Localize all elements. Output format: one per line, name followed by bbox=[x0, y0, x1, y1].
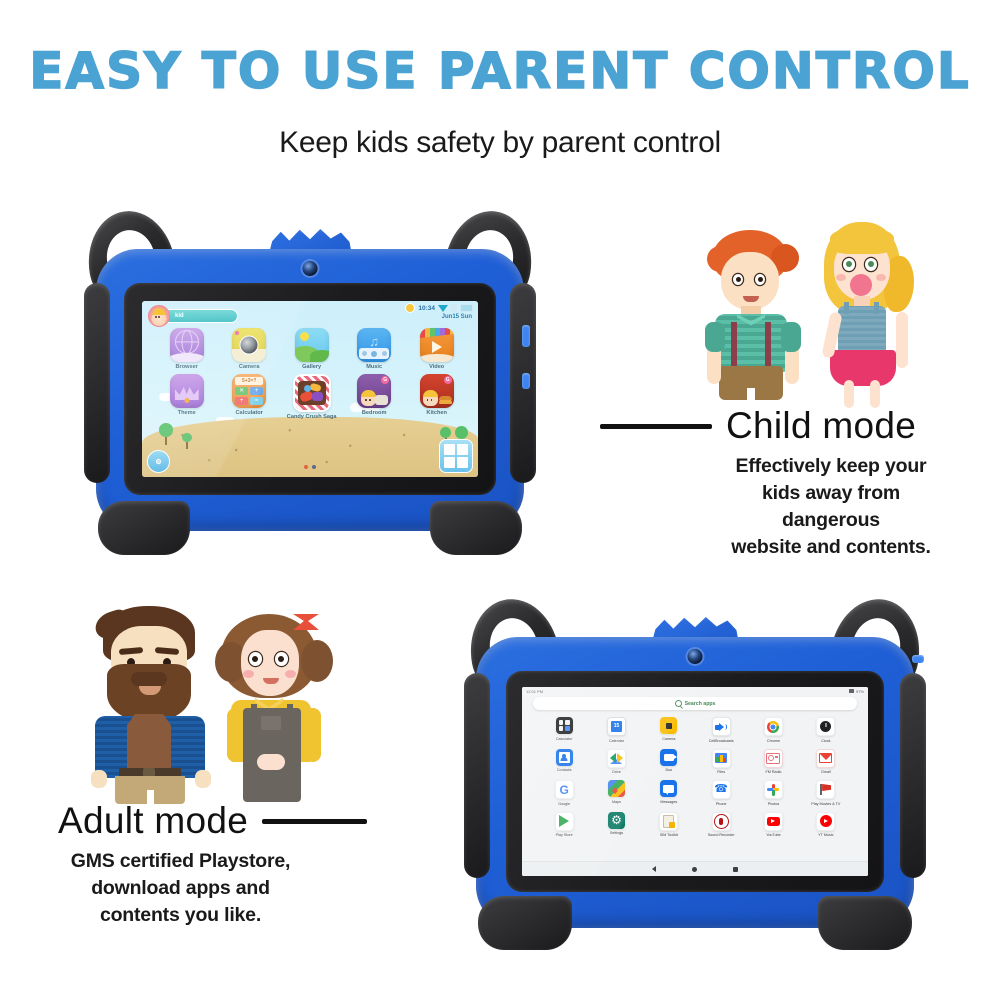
boy-sleeve bbox=[781, 322, 801, 352]
boy-pupil bbox=[736, 277, 741, 282]
android-app-photos[interactable]: Photos bbox=[747, 780, 799, 806]
father-hand bbox=[195, 770, 211, 788]
landscape-icon bbox=[295, 328, 329, 362]
android-app-label: YT Music bbox=[818, 833, 833, 837]
kid-status-bar: 10:34 bbox=[405, 303, 473, 313]
android-app-cellbroadcasts[interactable]: CellBroadcasts bbox=[695, 717, 747, 743]
boy-character bbox=[697, 230, 807, 408]
tree-decor bbox=[182, 433, 192, 449]
android-app-clock[interactable]: Clock bbox=[800, 717, 852, 743]
clock-icon bbox=[816, 717, 835, 736]
girl-character bbox=[810, 218, 920, 408]
android-app-label: FM Radio bbox=[766, 770, 782, 774]
play-store-icon bbox=[555, 812, 574, 831]
android-app-label: Files bbox=[717, 770, 725, 774]
android-app-contacts[interactable]: Contacts bbox=[538, 749, 590, 775]
android-app-label: Google bbox=[558, 802, 570, 806]
search-apps-label: Search apps bbox=[685, 701, 716, 707]
volume-button[interactable] bbox=[912, 655, 924, 663]
callout-description-line: Effectively keep your bbox=[712, 453, 950, 480]
android-navigation-bar bbox=[522, 861, 868, 876]
mother-hands bbox=[257, 754, 285, 770]
girl-bubblegum bbox=[850, 274, 872, 296]
father-mustache bbox=[131, 672, 167, 686]
android-app-files[interactable]: Files bbox=[695, 749, 747, 775]
tablet-edge-left bbox=[84, 283, 110, 483]
android-app-youtube[interactable]: YouTube bbox=[747, 812, 799, 838]
kid-app-candy-crush[interactable]: Candy Crush Saga bbox=[280, 374, 343, 420]
callout-rule bbox=[262, 819, 367, 824]
settings-gear-icon: ⚙ bbox=[608, 812, 625, 829]
camera-icon bbox=[660, 717, 677, 734]
battery-icon bbox=[849, 689, 854, 693]
android-app-label: Settings bbox=[610, 831, 623, 835]
tree-decor bbox=[159, 423, 173, 445]
android-app-fm-radio[interactable]: FM Radio bbox=[747, 749, 799, 775]
kid-app-video[interactable]: Video bbox=[405, 328, 468, 370]
boy-sleeve bbox=[705, 322, 725, 352]
mother-cheek bbox=[285, 670, 296, 678]
girl-pupil bbox=[868, 261, 874, 267]
broadcast-icon bbox=[712, 717, 731, 736]
android-app-gmail[interactable]: Gmail bbox=[800, 749, 852, 775]
kid-app-label: Camera bbox=[239, 364, 260, 370]
callout-heading-row: Child mode bbox=[600, 405, 950, 447]
adult-mode-screen: 12:01 PM 97% Search apps bbox=[522, 687, 868, 876]
android-app-label: Contacts bbox=[557, 768, 572, 772]
callout-heading-row: Adult mode bbox=[58, 800, 418, 842]
google-icon: G bbox=[555, 780, 574, 799]
music-player-icon: ♫ bbox=[357, 328, 391, 362]
android-app-label: Maps bbox=[612, 800, 621, 804]
android-app-label: YouTube bbox=[766, 833, 781, 837]
tablet-bezel: 12:01 PM 97% Search apps bbox=[506, 671, 884, 892]
android-app-label: Calendar bbox=[609, 739, 624, 743]
page-indicator-dots bbox=[304, 465, 316, 469]
youtube-icon bbox=[764, 812, 783, 831]
android-app-play-store[interactable]: Play Store bbox=[538, 812, 590, 838]
microphone-icon bbox=[712, 812, 731, 831]
files-icon bbox=[712, 749, 731, 768]
android-app-label: Drive bbox=[612, 770, 621, 774]
girl-skirt bbox=[830, 350, 896, 386]
kid-mode-screen: 10:34 Jun15 Sun kid bbox=[142, 301, 478, 477]
gmail-icon bbox=[816, 749, 835, 768]
android-app-label: Duo bbox=[665, 768, 672, 772]
calculator-icon bbox=[556, 717, 573, 734]
android-app-google[interactable]: G Google bbox=[538, 780, 590, 806]
android-app-phone[interactable]: ☎ Phone bbox=[695, 780, 747, 806]
android-app-sim-toolkit[interactable]: SIM Toolkit bbox=[643, 812, 695, 838]
girl-cheek bbox=[836, 274, 846, 281]
android-app-label: Sound Recorder bbox=[708, 833, 735, 837]
tablet-foot-left bbox=[98, 501, 190, 555]
kid-profile-name: kid bbox=[162, 309, 238, 323]
kid-app-camera[interactable]: Camera bbox=[218, 328, 281, 370]
girl-pupil bbox=[846, 261, 852, 267]
android-app-label: Clock bbox=[821, 739, 830, 743]
play-movies-icon bbox=[816, 780, 835, 799]
kid-profile-badge[interactable]: kid bbox=[148, 305, 238, 327]
battery-icon bbox=[460, 304, 473, 312]
globe-icon bbox=[170, 328, 204, 362]
crown-icon bbox=[170, 374, 204, 408]
kids-tablet-child-mode: 10:34 Jun15 Sun kid bbox=[80, 205, 540, 555]
volume-button[interactable] bbox=[522, 325, 530, 347]
yt-music-icon bbox=[816, 812, 835, 831]
girl-cheek bbox=[876, 274, 886, 281]
android-app-camera[interactable]: Camera bbox=[643, 717, 695, 743]
android-app-yt-music[interactable]: YT Music bbox=[800, 812, 852, 838]
android-app-label: Play Movies & TV bbox=[811, 802, 840, 806]
back-triangle-icon[interactable] bbox=[652, 866, 656, 872]
mother-arm bbox=[227, 708, 243, 762]
tablet-foot-right bbox=[818, 896, 912, 950]
kids-tablet-adult-mode: 12:01 PM 97% Search apps bbox=[460, 595, 930, 950]
android-app-label: Calculator bbox=[556, 737, 573, 741]
callout-child-mode: Child mode Effectively keep your kids aw… bbox=[600, 405, 950, 561]
mother-pupil bbox=[252, 656, 258, 662]
messages-icon bbox=[660, 780, 677, 797]
page-subtitle: Keep kids safety by parent control bbox=[0, 126, 1000, 160]
kid-app-label: Gallery bbox=[302, 364, 321, 370]
kid-app-label: Music bbox=[366, 364, 382, 370]
adults-illustration bbox=[85, 600, 330, 800]
android-app-label: Chrome bbox=[767, 739, 780, 743]
mother-apron-strap bbox=[287, 704, 293, 718]
callout-mode-label: Adult mode bbox=[58, 800, 248, 842]
recents-square-icon[interactable] bbox=[733, 867, 738, 872]
android-app-label: Camera bbox=[662, 737, 675, 741]
android-app-chrome[interactable]: Chrome bbox=[747, 717, 799, 743]
search-apps-bar[interactable]: Search apps bbox=[533, 697, 857, 710]
infographic-canvas: EASY TO USE PARENT CONTROL Keep kids saf… bbox=[0, 0, 1000, 1000]
tablet-foot-right bbox=[430, 501, 522, 555]
kid-app-calculator[interactable]: 5+3=? ✕ + + = Calculator bbox=[218, 374, 281, 420]
kid-app-browser[interactable]: Browser bbox=[155, 328, 217, 370]
tablet-edge-right bbox=[900, 673, 926, 878]
girl-bangs bbox=[830, 228, 894, 254]
callout-rule bbox=[600, 424, 712, 429]
chrome-icon bbox=[764, 717, 783, 736]
android-app-label: Phone bbox=[716, 802, 727, 806]
girl-strap bbox=[844, 302, 849, 314]
radio-icon bbox=[764, 749, 783, 768]
status-battery: 97% bbox=[849, 689, 864, 694]
alarm-icon bbox=[405, 303, 415, 313]
front-camera-icon bbox=[688, 649, 703, 664]
kid-status-date: Jun15 Sun bbox=[442, 314, 472, 320]
android-app-sound-recorder[interactable]: Sound Recorder bbox=[695, 812, 747, 838]
callout-description-line: website and contents. bbox=[712, 534, 950, 561]
kid-app-gallery[interactable]: Gallery bbox=[280, 328, 343, 370]
front-camera-icon bbox=[303, 261, 318, 276]
candy-icon bbox=[293, 374, 331, 412]
android-app-label: CellBroadcasts bbox=[709, 739, 734, 743]
camera-icon bbox=[232, 328, 266, 362]
android-app-drawer: 12:01 PM 97% Search apps bbox=[522, 687, 868, 876]
android-app-grid: Calculator 15 Calendar Ca bbox=[522, 717, 868, 837]
sim-toolkit-icon bbox=[659, 812, 678, 831]
home-circle-icon[interactable] bbox=[692, 867, 697, 872]
android-app-label: Photos bbox=[768, 802, 779, 806]
kid-app-label: Theme bbox=[178, 410, 196, 416]
phone-icon: ☎ bbox=[712, 780, 731, 799]
drive-icon bbox=[607, 749, 626, 768]
android-app-label: Messages bbox=[660, 800, 677, 804]
father-hand bbox=[91, 770, 107, 788]
boy-shorts-gap bbox=[747, 388, 755, 402]
kid-app-bedroom[interactable]: G Bedroom bbox=[343, 374, 406, 420]
mother-apron-pocket bbox=[261, 716, 281, 730]
mother-cheek bbox=[243, 670, 254, 678]
android-app-label: SIM Toolkit bbox=[660, 833, 678, 837]
kid-app-label: Kitchen bbox=[426, 410, 447, 416]
mother-arm bbox=[305, 708, 321, 762]
android-app-play-movies[interactable]: Play Movies & TV bbox=[800, 780, 852, 806]
tablet-bezel: 10:34 Jun15 Sun kid bbox=[124, 283, 496, 495]
android-app-label: Play Store bbox=[556, 833, 573, 837]
tablet-edge-left bbox=[464, 673, 490, 878]
girl-leg bbox=[844, 380, 854, 408]
tablet-foot-left bbox=[478, 896, 572, 950]
kitchen-game-icon: G bbox=[420, 374, 454, 408]
maps-icon bbox=[608, 780, 625, 797]
father-character bbox=[85, 606, 215, 802]
page-title: EASY TO USE PARENT CONTROL bbox=[0, 46, 1000, 96]
kid-app-grid: Browser Camera bbox=[155, 328, 467, 420]
callout-description-line: contents you like. bbox=[58, 902, 303, 929]
children-illustration bbox=[685, 212, 935, 407]
kid-avatar-icon bbox=[148, 305, 170, 327]
search-icon bbox=[675, 700, 682, 707]
girl-strap bbox=[874, 302, 879, 314]
power-button[interactable] bbox=[522, 373, 530, 389]
kid-app-theme[interactable]: Theme bbox=[155, 374, 217, 420]
kid-app-kitchen[interactable]: G Kitchen bbox=[405, 374, 468, 420]
status-time: 10:34 bbox=[418, 305, 435, 312]
contacts-icon bbox=[556, 749, 573, 766]
girl-leg bbox=[870, 380, 880, 408]
callout-description-line: download apps and bbox=[58, 875, 303, 902]
kid-app-label: Bedroom bbox=[362, 410, 387, 416]
photos-icon bbox=[764, 780, 783, 799]
boy-pupil bbox=[758, 277, 763, 282]
mother-apron-strap bbox=[251, 704, 257, 718]
callout-description-line: GMS certified Playstore, bbox=[58, 848, 303, 875]
kid-app-label: Candy Crush Saga bbox=[287, 414, 337, 420]
kid-app-label: Browser bbox=[175, 364, 197, 370]
android-status-bar: 12:01 PM 97% bbox=[522, 687, 868, 695]
bluetooth-icon bbox=[451, 304, 457, 312]
video-play-icon bbox=[420, 328, 454, 362]
android-app-label: Gmail bbox=[821, 770, 831, 774]
bedroom-game-icon: G bbox=[357, 374, 391, 408]
callout-mode-label: Child mode bbox=[726, 405, 916, 447]
girl-arm bbox=[896, 312, 908, 368]
callout-description-line: kids away from dangerous bbox=[712, 480, 950, 534]
mother-hair-curl bbox=[301, 640, 333, 682]
callout-description: Effectively keep your kids away from dan… bbox=[712, 453, 950, 561]
android-app-duo[interactable]: Duo bbox=[643, 749, 695, 775]
android-app-drive[interactable]: Drive bbox=[590, 749, 642, 775]
calculator-icon: 5+3=? ✕ + + = bbox=[232, 374, 266, 408]
android-app-maps[interactable]: Maps bbox=[590, 780, 642, 806]
all-apps-grid-icon[interactable] bbox=[439, 439, 473, 473]
android-app-calculator[interactable]: Calculator bbox=[538, 717, 590, 743]
wifi-icon bbox=[438, 305, 448, 312]
callout-adult-mode: Adult mode GMS certified Playstore, down… bbox=[58, 800, 418, 929]
kid-app-label: Video bbox=[429, 364, 444, 370]
calendar-icon: 15 bbox=[607, 717, 626, 736]
android-app-messages[interactable]: Messages bbox=[643, 780, 695, 806]
android-app-calendar[interactable]: 15 Calendar bbox=[590, 717, 642, 743]
kid-app-music[interactable]: ♫ Music bbox=[343, 328, 406, 370]
parent-control-icon[interactable]: ⚙ bbox=[147, 450, 170, 473]
duo-icon bbox=[660, 749, 677, 766]
mother-character bbox=[213, 612, 333, 802]
callout-description: GMS certified Playstore, download apps a… bbox=[58, 848, 303, 929]
mother-pupil bbox=[278, 656, 284, 662]
android-app-settings[interactable]: ⚙ Settings bbox=[590, 812, 642, 838]
kid-app-label: Calculator bbox=[235, 410, 262, 416]
status-time: 12:01 PM bbox=[526, 689, 543, 694]
